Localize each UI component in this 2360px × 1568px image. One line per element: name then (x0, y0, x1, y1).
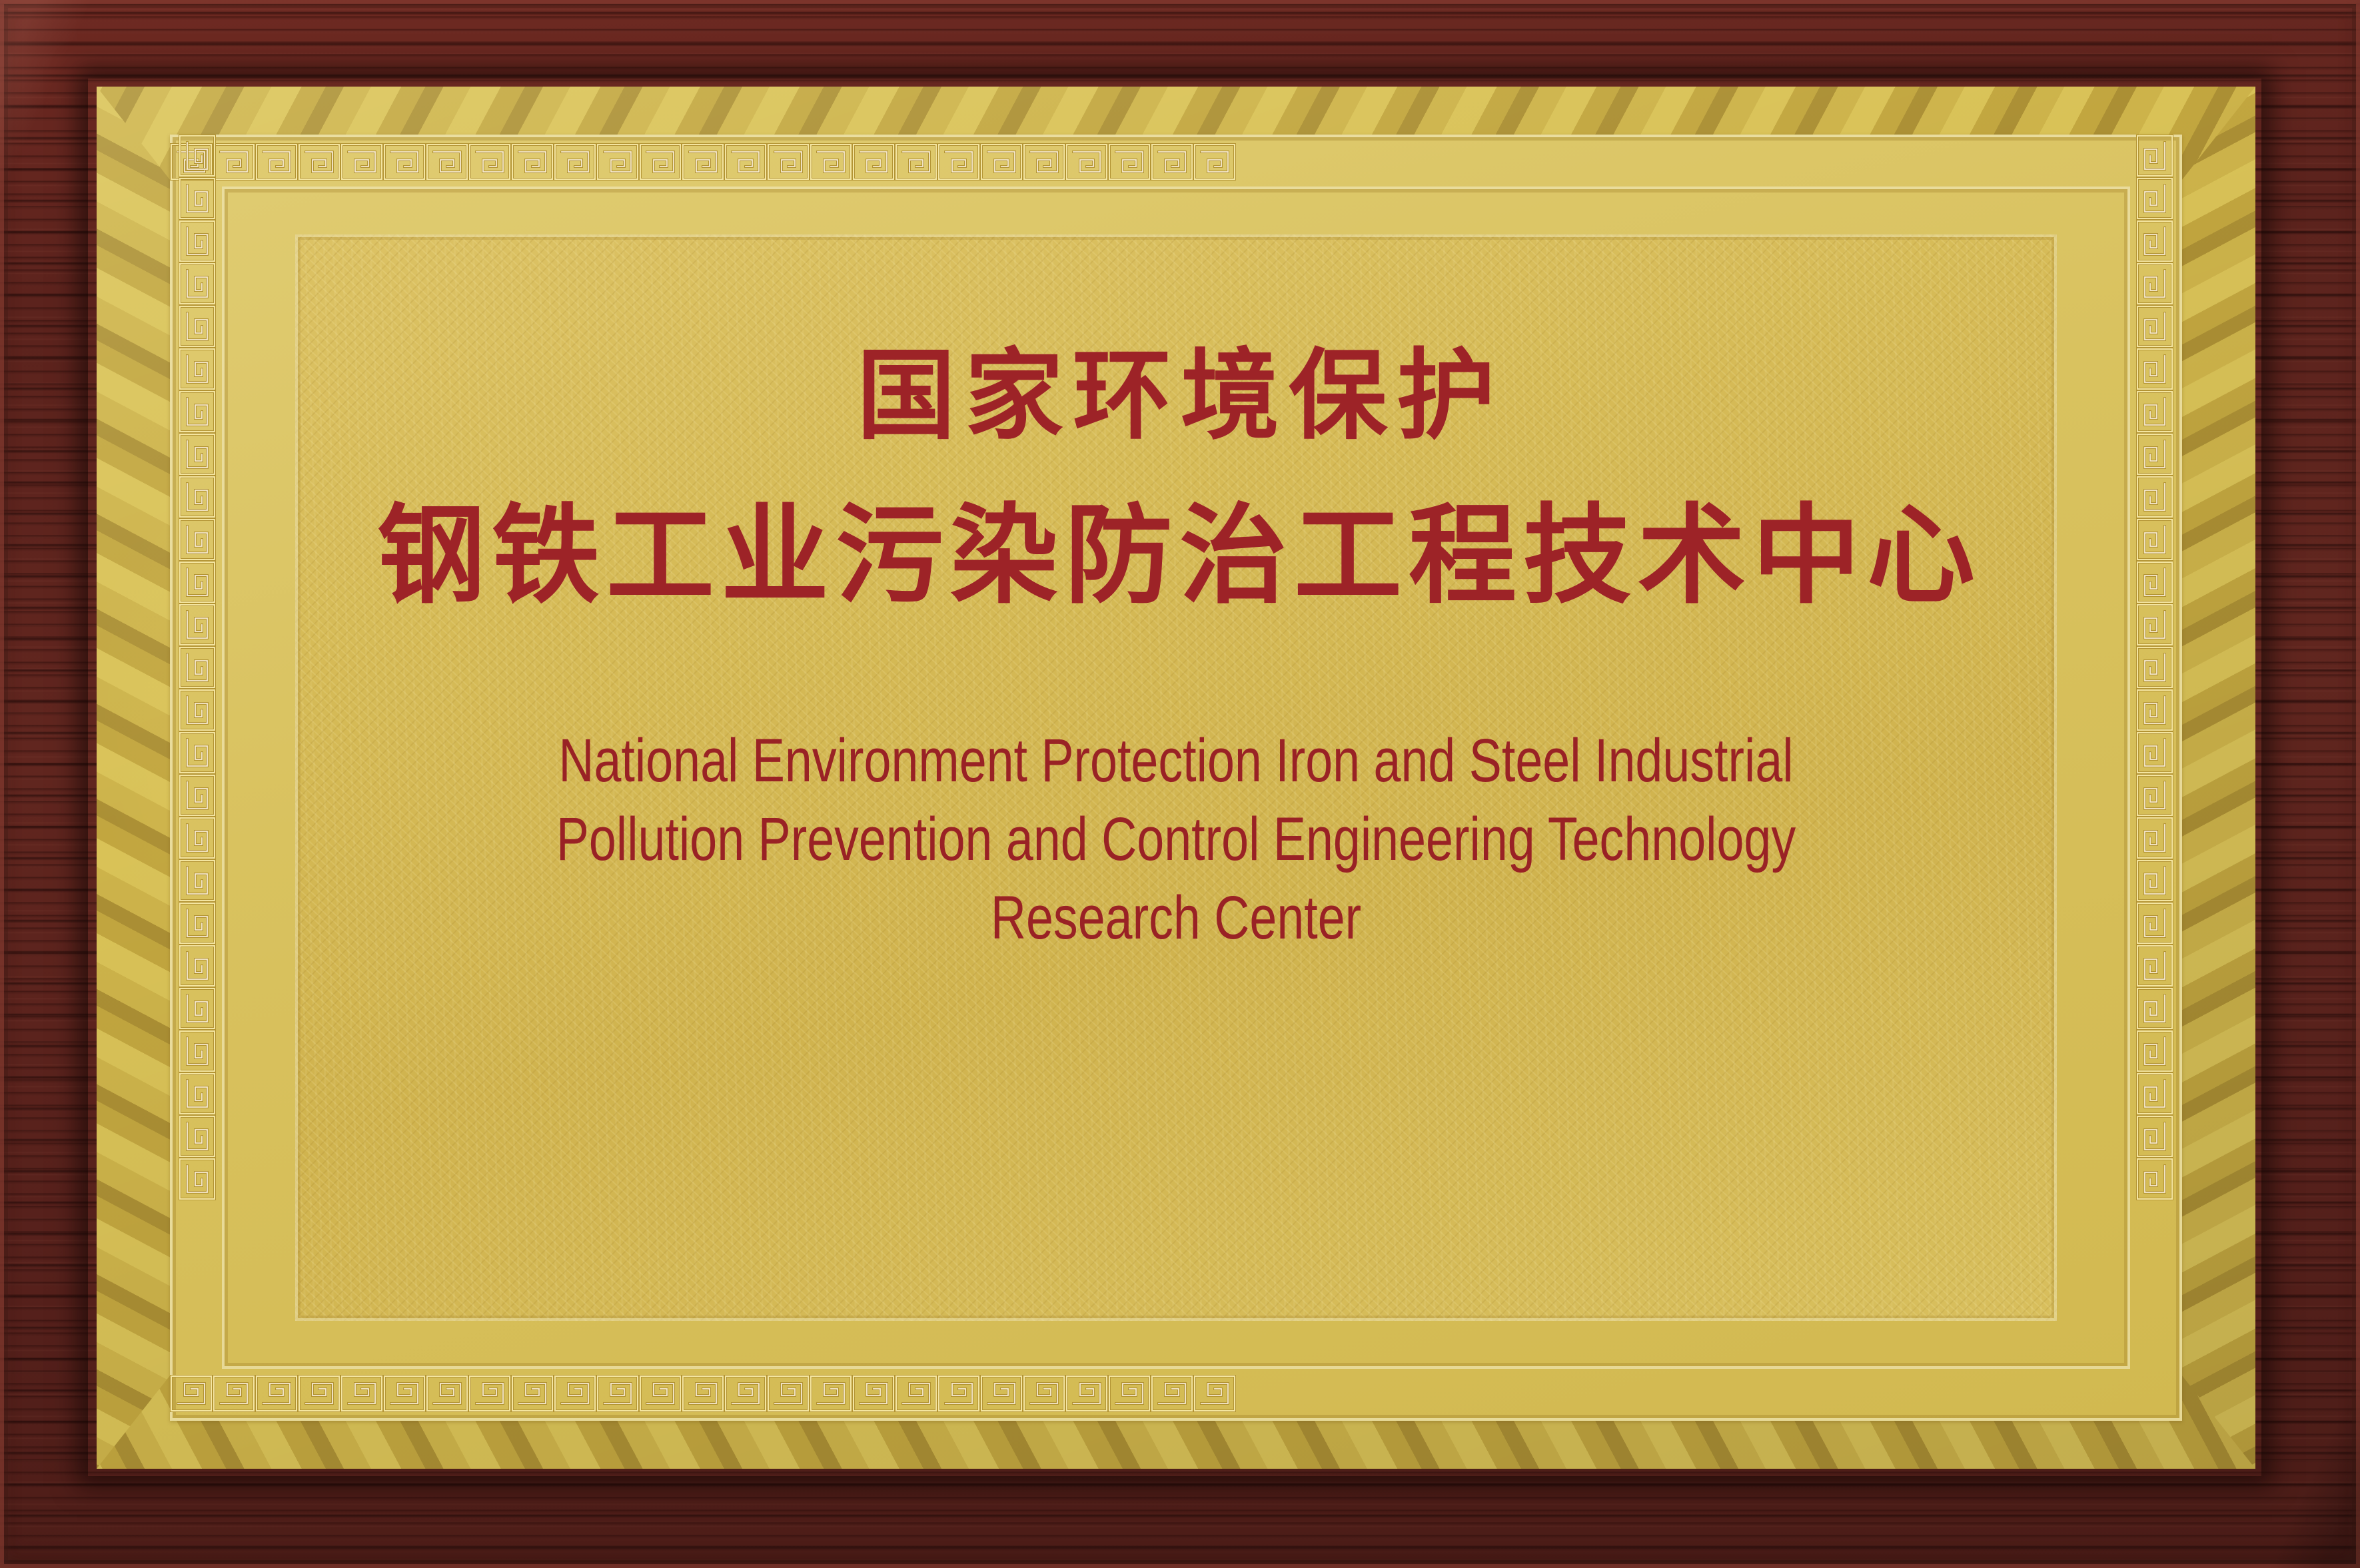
inscription-panel: 国家环境保护 钢铁工业污染防治工程技术中心 National Environme… (295, 234, 2057, 1321)
award-plaque: 国家环境保护 钢铁工业污染防治工程技术中心 National Environme… (0, 0, 2360, 1568)
title-english-line-2: Pollution Prevention and Control Enginee… (504, 801, 1848, 879)
chinese-title-block: 国家环境保护 钢铁工业污染防治工程技术中心 (295, 234, 2057, 610)
meander-fret-top (170, 141, 1236, 183)
meander-fret-bottom (170, 1373, 1236, 1414)
meander-fret-right (2134, 135, 2175, 1200)
title-chinese-line-2: 钢铁工业污染防治工程技术中心 (295, 502, 2057, 610)
title-english-line-3: Research Center (504, 879, 1848, 958)
title-chinese-line-1: 国家环境保护 (295, 346, 2057, 445)
meander-border: 国家环境保护 钢铁工业污染防治工程技术中心 National Environme… (170, 135, 2182, 1421)
title-english-line-1: National Environment Protection Iron and… (504, 722, 1848, 801)
meander-fret-left (177, 135, 218, 1200)
gold-plate: 国家环境保护 钢铁工业污染防治工程技术中心 National Environme… (97, 87, 2255, 1469)
english-title-block: National Environment Protection Iron and… (504, 722, 1848, 957)
